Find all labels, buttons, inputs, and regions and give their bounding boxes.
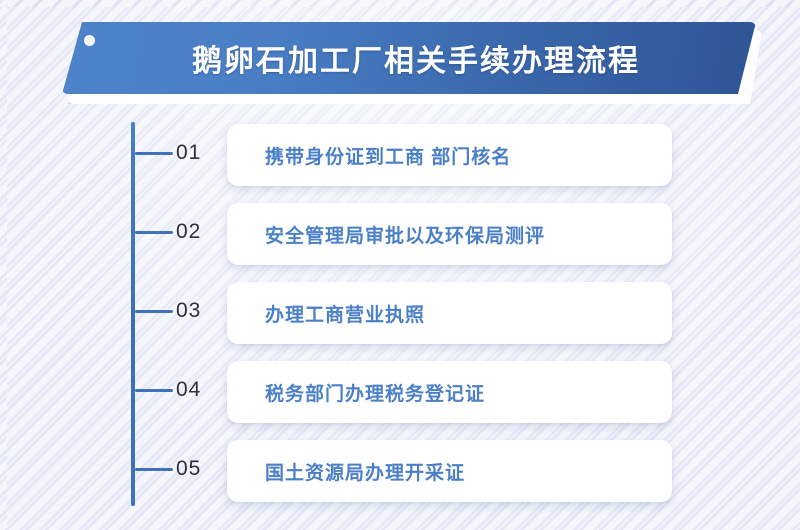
infographic-page: 鹅卵石加工厂相关手续办理流程 01 携带身份证到工商 部门核名 02 安全管理局… [0,0,800,530]
step-card[interactable]: 携带身份证到工商 部门核名 [227,124,672,186]
step-card-label: 安全管理局审批以及环保局测评 [265,221,545,248]
step-card[interactable]: 国土资源局办理开采证 [227,440,672,502]
step-number: 01 [176,138,220,168]
timeline-step: 05 国土资源局办理开采证 [0,432,800,511]
step-card[interactable]: 办理工商营业执照 [227,282,672,344]
step-tick-marker [135,389,173,392]
step-card-label: 办理工商营业执照 [265,300,425,327]
timeline-step: 04 税务部门办理税务登记证 [0,353,800,432]
step-tick-marker [135,231,173,234]
step-number: 03 [176,296,220,326]
step-number: 04 [176,375,220,405]
step-tick-marker [135,152,173,155]
step-card-label: 携带身份证到工商 部门核名 [265,142,511,169]
title-banner: 鹅卵石加工厂相关手续办理流程 [62,22,762,98]
page-title: 鹅卵石加工厂相关手续办理流程 [62,22,756,94]
timeline-step: 03 办理工商营业执照 [0,274,800,353]
timeline-step: 01 携带身份证到工商 部门核名 [0,116,800,195]
step-card[interactable]: 税务部门办理税务登记证 [227,361,672,423]
step-number: 05 [176,454,220,484]
timeline-step: 02 安全管理局审批以及环保局测评 [0,195,800,274]
step-card-label: 国土资源局办理开采证 [265,458,465,485]
step-tick-marker [135,468,173,471]
step-card-label: 税务部门办理税务登记证 [265,379,485,406]
step-number: 02 [176,217,220,247]
timeline-steps: 01 携带身份证到工商 部门核名 02 安全管理局审批以及环保局测评 03 办理… [0,116,800,511]
step-card[interactable]: 安全管理局审批以及环保局测评 [227,203,672,265]
step-tick-marker [135,310,173,313]
